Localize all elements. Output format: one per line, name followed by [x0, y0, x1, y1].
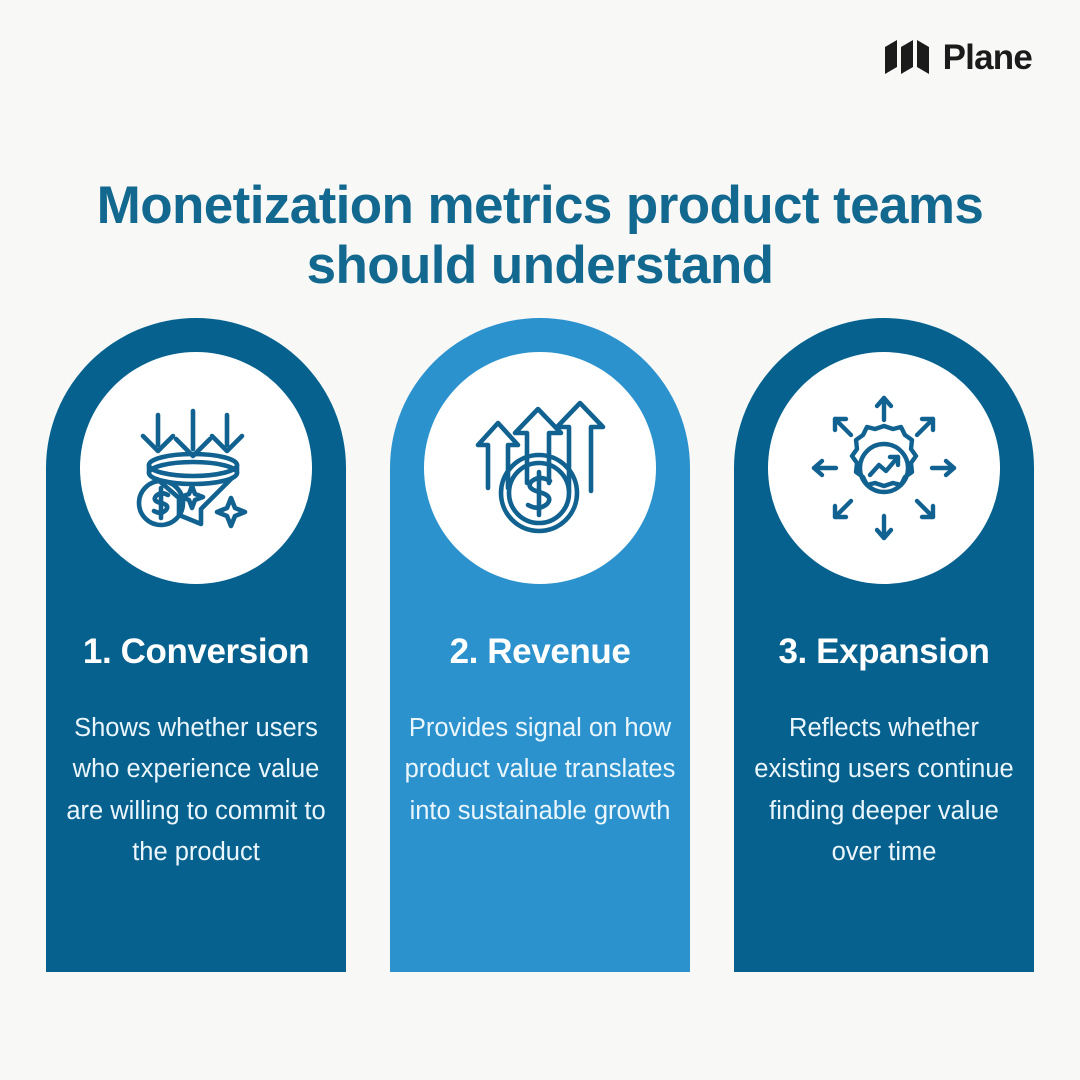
card-body-revenue: Provides signal on how product value tra… [390, 708, 690, 832]
icon-badge-revenue [424, 352, 656, 584]
metric-card-revenue: 2. Revenue Provides signal on how produc… [390, 318, 690, 972]
metric-cards: 1. Conversion Shows whether users who ex… [46, 318, 1034, 972]
card-body-conversion: Shows whether users who experience value… [46, 708, 346, 873]
plane-logo-icon [884, 39, 930, 75]
expansion-gear-arrows-icon [809, 393, 959, 543]
brand-name: Plane [943, 40, 1032, 75]
page-title: Monetization metrics product teams shoul… [0, 176, 1080, 297]
card-heading-conversion: 1. Conversion [83, 632, 309, 672]
card-heading-revenue: 2. Revenue [450, 632, 631, 672]
icon-badge-conversion [80, 352, 312, 584]
metric-card-expansion: 3. Expansion Reflects whether existing u… [734, 318, 1034, 972]
conversion-funnel-icon [121, 393, 271, 543]
card-body-expansion: Reflects whether existing users continue… [734, 708, 1034, 873]
page-title-line-1: Monetization metrics product teams [60, 176, 1020, 236]
brand-logo: Plane [884, 39, 1032, 75]
revenue-growth-coin-icon [465, 393, 615, 543]
page-title-line-2: should understand [60, 236, 1020, 296]
card-heading-expansion: 3. Expansion [778, 632, 989, 672]
metric-card-conversion: 1. Conversion Shows whether users who ex… [46, 318, 346, 972]
icon-badge-expansion [768, 352, 1000, 584]
